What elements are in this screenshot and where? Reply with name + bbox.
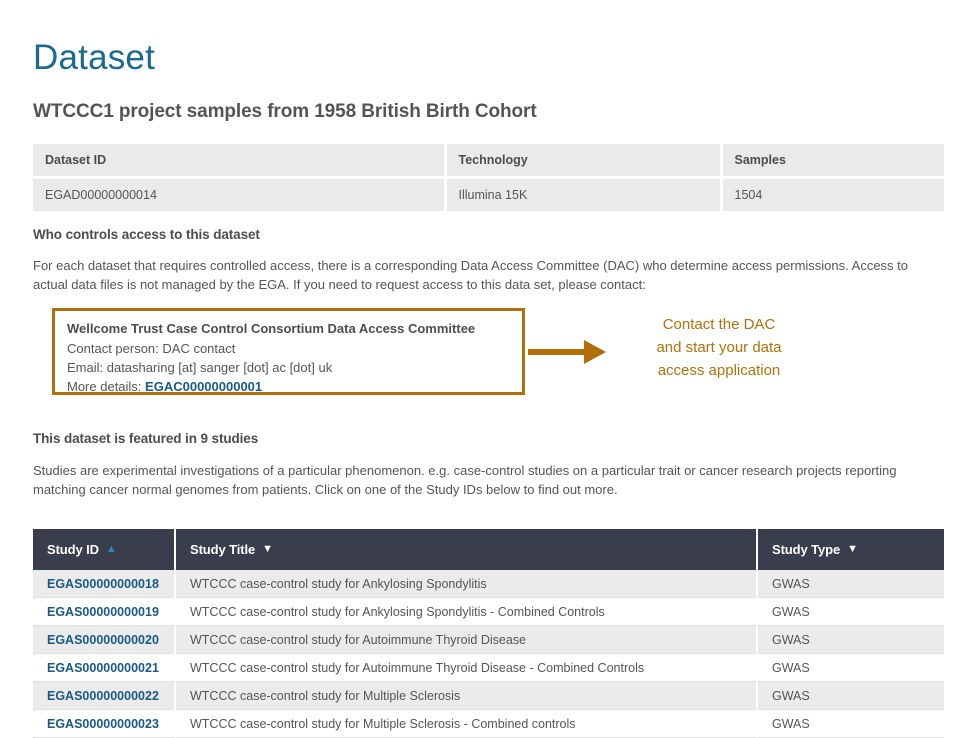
study-type-cell: GWAS — [757, 626, 944, 654]
arrow-line — [528, 349, 586, 355]
table-row: EGAS00000000023WTCCC case-control study … — [33, 710, 944, 738]
study-id-cell: EGAS00000000021 — [33, 654, 175, 682]
access-section-paragraph: For each dataset that requires controlle… — [33, 256, 933, 294]
study-id-cell: EGAS00000000023 — [33, 710, 175, 738]
info-cell-samples: 1504 — [721, 178, 944, 212]
study-type-cell: GWAS — [757, 710, 944, 738]
dac-callout-box: Wellcome Trust Case Control Consortium D… — [52, 308, 525, 395]
info-cell-technology: Illumina 15K — [445, 178, 721, 212]
study-title-cell: WTCCC case-control study for Multiple Sc… — [175, 682, 757, 710]
annotation-text: Contact the DAC and start your data acce… — [624, 313, 814, 382]
table-row: EGAS00000000022WTCCC case-control study … — [33, 682, 944, 710]
dataset-page: Dataset WTCCC1 project samples from 1958… — [0, 0, 965, 734]
studies-table-body: EGAS00000000018WTCCC case-control study … — [33, 570, 944, 738]
study-id-link[interactable]: EGAS00000000018 — [47, 577, 159, 591]
annotation-line-3: access application — [624, 359, 814, 382]
info-header-technology: Technology — [445, 144, 721, 178]
chevron-down-icon[interactable]: ▼ — [262, 544, 273, 555]
info-table-header-row: Dataset ID Technology Samples — [33, 144, 944, 178]
study-type-cell: GWAS — [757, 654, 944, 682]
dac-email: Email: datasharing [at] sanger [dot] ac … — [67, 358, 522, 377]
info-cell-dataset-id: EGAD00000000014 — [33, 178, 445, 212]
studies-section-paragraph: Studies are experimental investigations … — [33, 461, 943, 499]
study-id-link[interactable]: EGAS00000000022 — [47, 689, 159, 703]
study-type-cell: GWAS — [757, 598, 944, 626]
dac-more-details-label: More details: — [67, 379, 141, 394]
study-id-cell: EGAS00000000019 — [33, 598, 175, 626]
studies-header-study-title[interactable]: Study Title▼ — [175, 529, 757, 570]
dac-title: Wellcome Trust Case Control Consortium D… — [67, 319, 522, 338]
access-section-heading: Who controls access to this dataset — [33, 227, 260, 242]
table-row: EGAS00000000020WTCCC case-control study … — [33, 626, 944, 654]
dataset-info-table: Dataset ID Technology Samples EGAD000000… — [33, 144, 944, 211]
table-row: EGAS00000000019WTCCC case-control study … — [33, 598, 944, 626]
arrow-head — [584, 340, 606, 364]
dac-more-details: More details: EGAC00000000001 — [67, 377, 522, 396]
study-type-cell: GWAS — [757, 682, 944, 710]
info-header-dataset-id: Dataset ID — [33, 144, 445, 178]
study-id-link[interactable]: EGAS00000000021 — [47, 661, 159, 675]
dac-contact-person: Contact person: DAC contact — [67, 339, 522, 358]
study-type-cell: GWAS — [757, 570, 944, 598]
studies-header-study-id-label: Study ID — [47, 542, 99, 557]
info-header-samples: Samples — [721, 144, 944, 178]
chevron-up-icon[interactable]: ▲ — [106, 544, 117, 555]
dac-more-details-link[interactable]: EGAC00000000001 — [145, 379, 262, 394]
study-id-link[interactable]: EGAS00000000019 — [47, 605, 159, 619]
studies-header-study-type-label: Study Type — [772, 542, 840, 557]
info-table-row: EGAD00000000014 Illumina 15K 1504 — [33, 178, 944, 212]
page-title: Dataset — [33, 37, 155, 79]
dac-callout-content: Wellcome Trust Case Control Consortium D… — [55, 311, 522, 396]
study-title-cell: WTCCC case-control study for Multiple Sc… — [175, 710, 757, 738]
chevron-down-icon[interactable]: ▼ — [847, 544, 858, 555]
study-id-cell: EGAS00000000022 — [33, 682, 175, 710]
study-id-link[interactable]: EGAS00000000023 — [47, 717, 159, 731]
annotation-line-2: and start your data — [624, 336, 814, 359]
study-title-cell: WTCCC case-control study for Autoimmune … — [175, 654, 757, 682]
study-id-cell: EGAS00000000018 — [33, 570, 175, 598]
study-title-cell: WTCCC case-control study for Ankylosing … — [175, 570, 757, 598]
study-id-link[interactable]: EGAS00000000020 — [47, 633, 159, 647]
table-row: EGAS00000000018WTCCC case-control study … — [33, 570, 944, 598]
studies-table: Study ID▲ Study Title▼ Study Type▼ EGAS0… — [33, 529, 944, 738]
studies-table-header-row: Study ID▲ Study Title▼ Study Type▼ — [33, 529, 944, 570]
annotation-line-1: Contact the DAC — [624, 313, 814, 336]
studies-section-heading: This dataset is featured in 9 studies — [33, 431, 258, 446]
study-title-cell: WTCCC case-control study for Ankylosing … — [175, 598, 757, 626]
study-id-cell: EGAS00000000020 — [33, 626, 175, 654]
studies-header-study-type[interactable]: Study Type▼ — [757, 529, 944, 570]
studies-header-study-title-label: Study Title — [190, 542, 255, 557]
table-row: EGAS00000000021WTCCC case-control study … — [33, 654, 944, 682]
study-title-cell: WTCCC case-control study for Autoimmune … — [175, 626, 757, 654]
dataset-name-heading: WTCCC1 project samples from 1958 British… — [33, 101, 537, 123]
annotation-arrow-icon — [528, 340, 618, 364]
studies-header-study-id[interactable]: Study ID▲ — [33, 529, 175, 570]
